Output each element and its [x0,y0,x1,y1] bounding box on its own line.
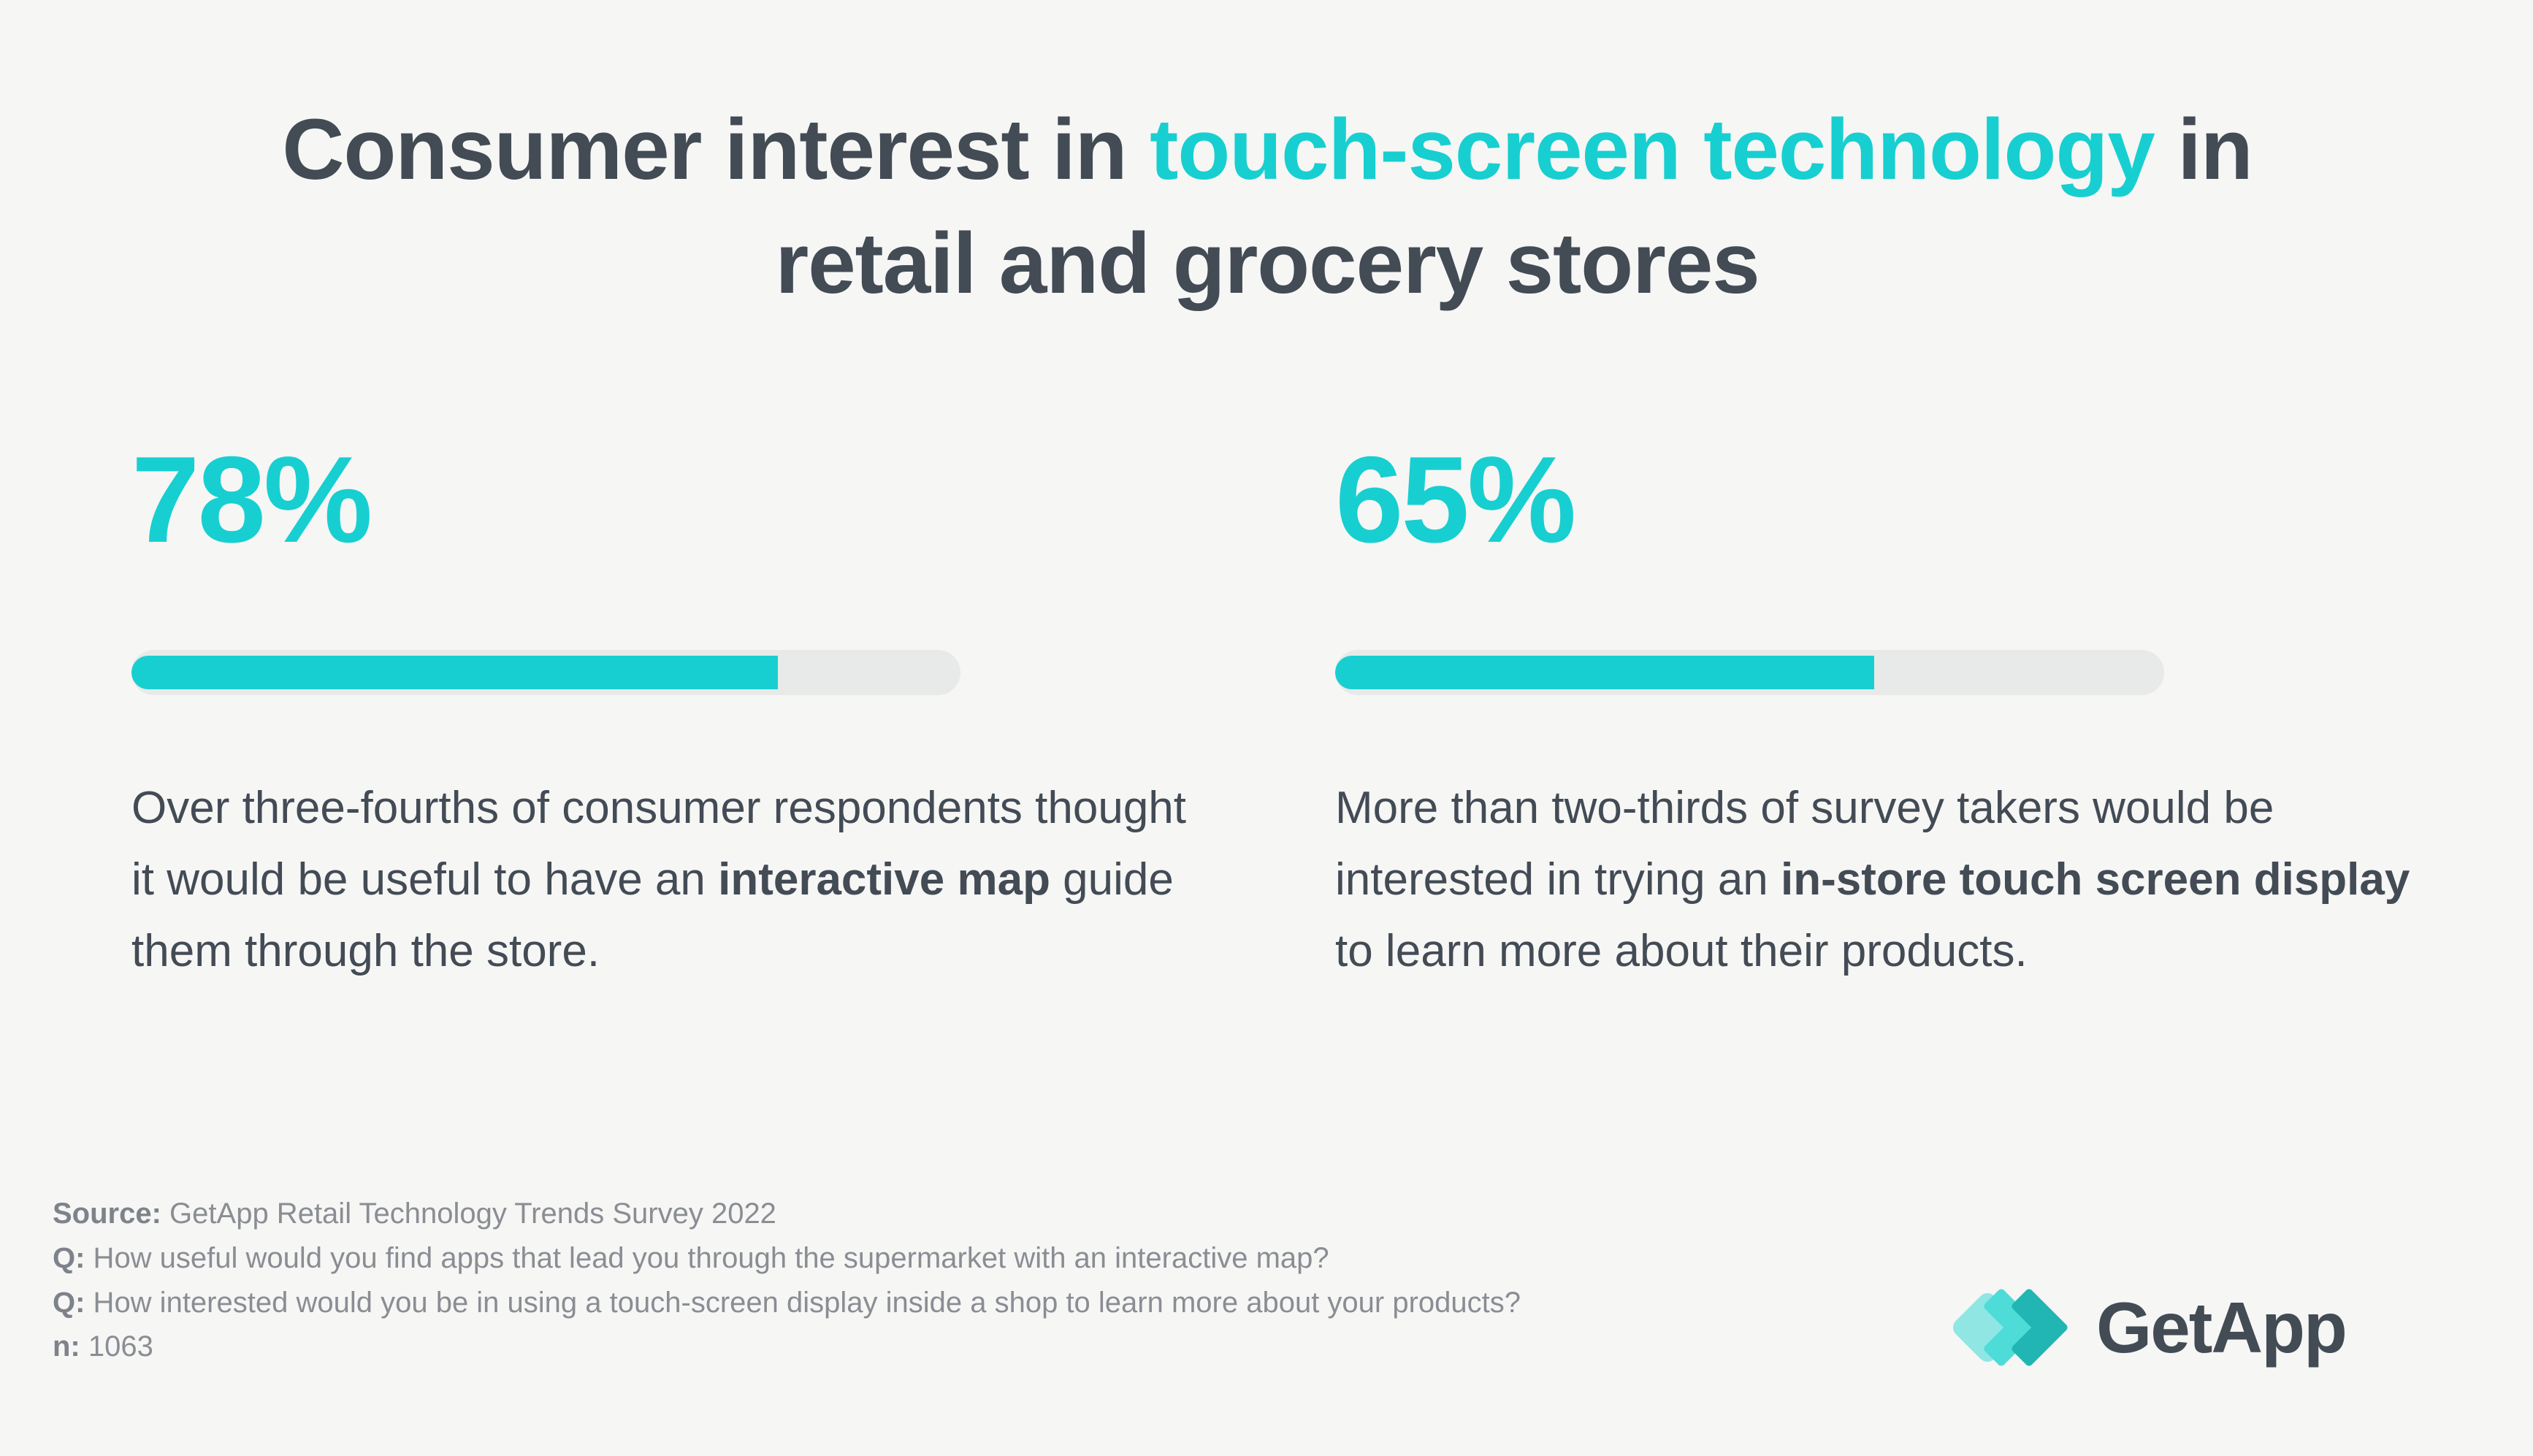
footnote-q1-label: Q: [53,1242,85,1274]
progress-bar-fill-2 [1335,656,1874,689]
footnote-q2-text: How interested would you be in using a t… [85,1287,1521,1319]
progress-bar-track-2 [1335,650,2164,695]
progress-bar-track-1 [131,650,960,695]
footnote-question-2: Q: How interested would you be in using … [53,1281,1732,1325]
footnote-q1-text: How useful would you find apps that lead… [85,1242,1329,1274]
footnote-source-text: GetApp Retail Technology Trends Survey 2… [161,1198,776,1230]
title-part-1: Consumer interest in [282,101,1150,198]
stat-description-2: More than two-thirds of survey takers wo… [1335,773,2416,987]
footnote-source: Source: GetApp Retail Technology Trends … [53,1192,1732,1236]
stats-columns: 78% Over three-fourths of consumer respo… [0,438,2533,1095]
stat-description-2-suffix: to learn more about their products. [1335,926,2028,976]
footnote-n-text: 1063 [80,1330,153,1363]
footnote-q2-label: Q: [53,1287,85,1319]
footnote-question-1: Q: How useful would you find apps that l… [53,1236,1732,1281]
footnotes: Source: GetApp Retail Technology Trends … [53,1192,1732,1369]
getapp-wordmark: GetApp [2096,1292,2346,1363]
infographic-canvas: Consumer interest in touch-screen techno… [0,0,2533,1456]
stat-description-2-bold: in-store touch screen display [1781,854,2410,905]
title-highlight: touch-screen technology [1150,101,2155,198]
footnote-n-label: n: [53,1330,80,1363]
stat-value-2: 65% [1335,438,2431,577]
getapp-logo: GetApp [1947,1276,2429,1379]
footnote-source-label: Source: [53,1198,161,1230]
page-title: Consumer interest in touch-screen techno… [175,93,2359,321]
stat-description-1-bold: interactive map [718,854,1050,905]
stat-description-1: Over three-fourths of consumer responden… [131,773,1212,987]
getapp-chevrons-icon [1947,1280,2086,1375]
progress-bar-fill-1 [131,656,778,689]
stat-block-1: 78% Over three-fourths of consumer respo… [131,438,1227,987]
footnote-sample-size: n: 1063 [53,1325,1732,1369]
stat-value-1: 78% [131,438,1227,577]
stat-block-2: 65% More than two-thirds of survey taker… [1335,438,2431,987]
